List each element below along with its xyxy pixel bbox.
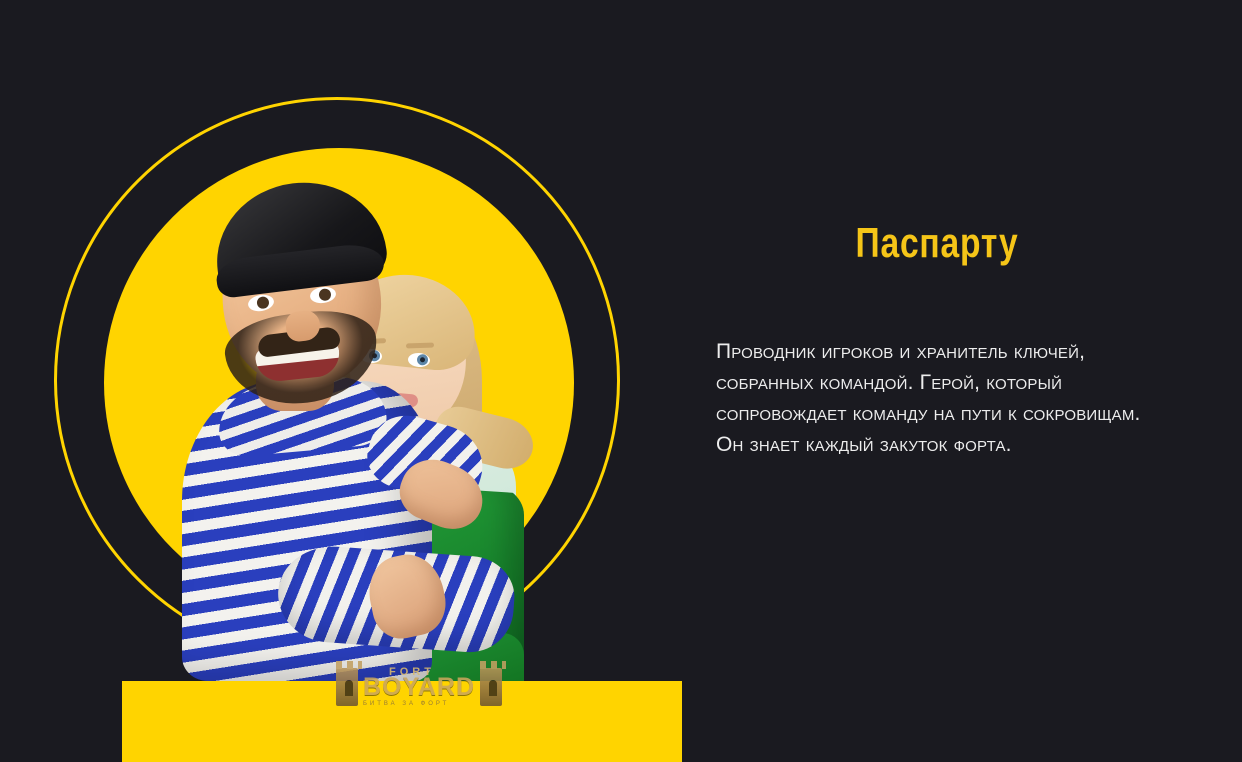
castle-tower-icon [336, 668, 358, 706]
slide-root: FORT BOYARD БИТВА ЗА ФОРТ Паспарту Прово… [0, 0, 1242, 762]
fort-boyard-watermark: FORT BOYARD БИТВА ЗА ФОРТ [336, 664, 502, 710]
watermark-boyard-label: BOYARD [363, 675, 475, 700]
portrait-zone: FORT BOYARD БИТВА ЗА ФОРТ [54, 97, 620, 663]
castle-tower-icon [480, 668, 502, 706]
portrait-photo-passepartout [182, 163, 522, 688]
watermark-subtitle: БИТВА ЗА ФОРТ [363, 701, 475, 707]
girl-eyebrow-right [406, 343, 434, 349]
portrait-photo-clip: FORT BOYARD БИТВА ЗА ФОРТ [104, 148, 574, 618]
text-column: Паспарту Проводник игроков и хранитель к… [716, 200, 1176, 460]
character-description: Проводник игроков и хранитель ключей, со… [716, 336, 1168, 460]
page-title: Паспарту [837, 200, 1037, 264]
